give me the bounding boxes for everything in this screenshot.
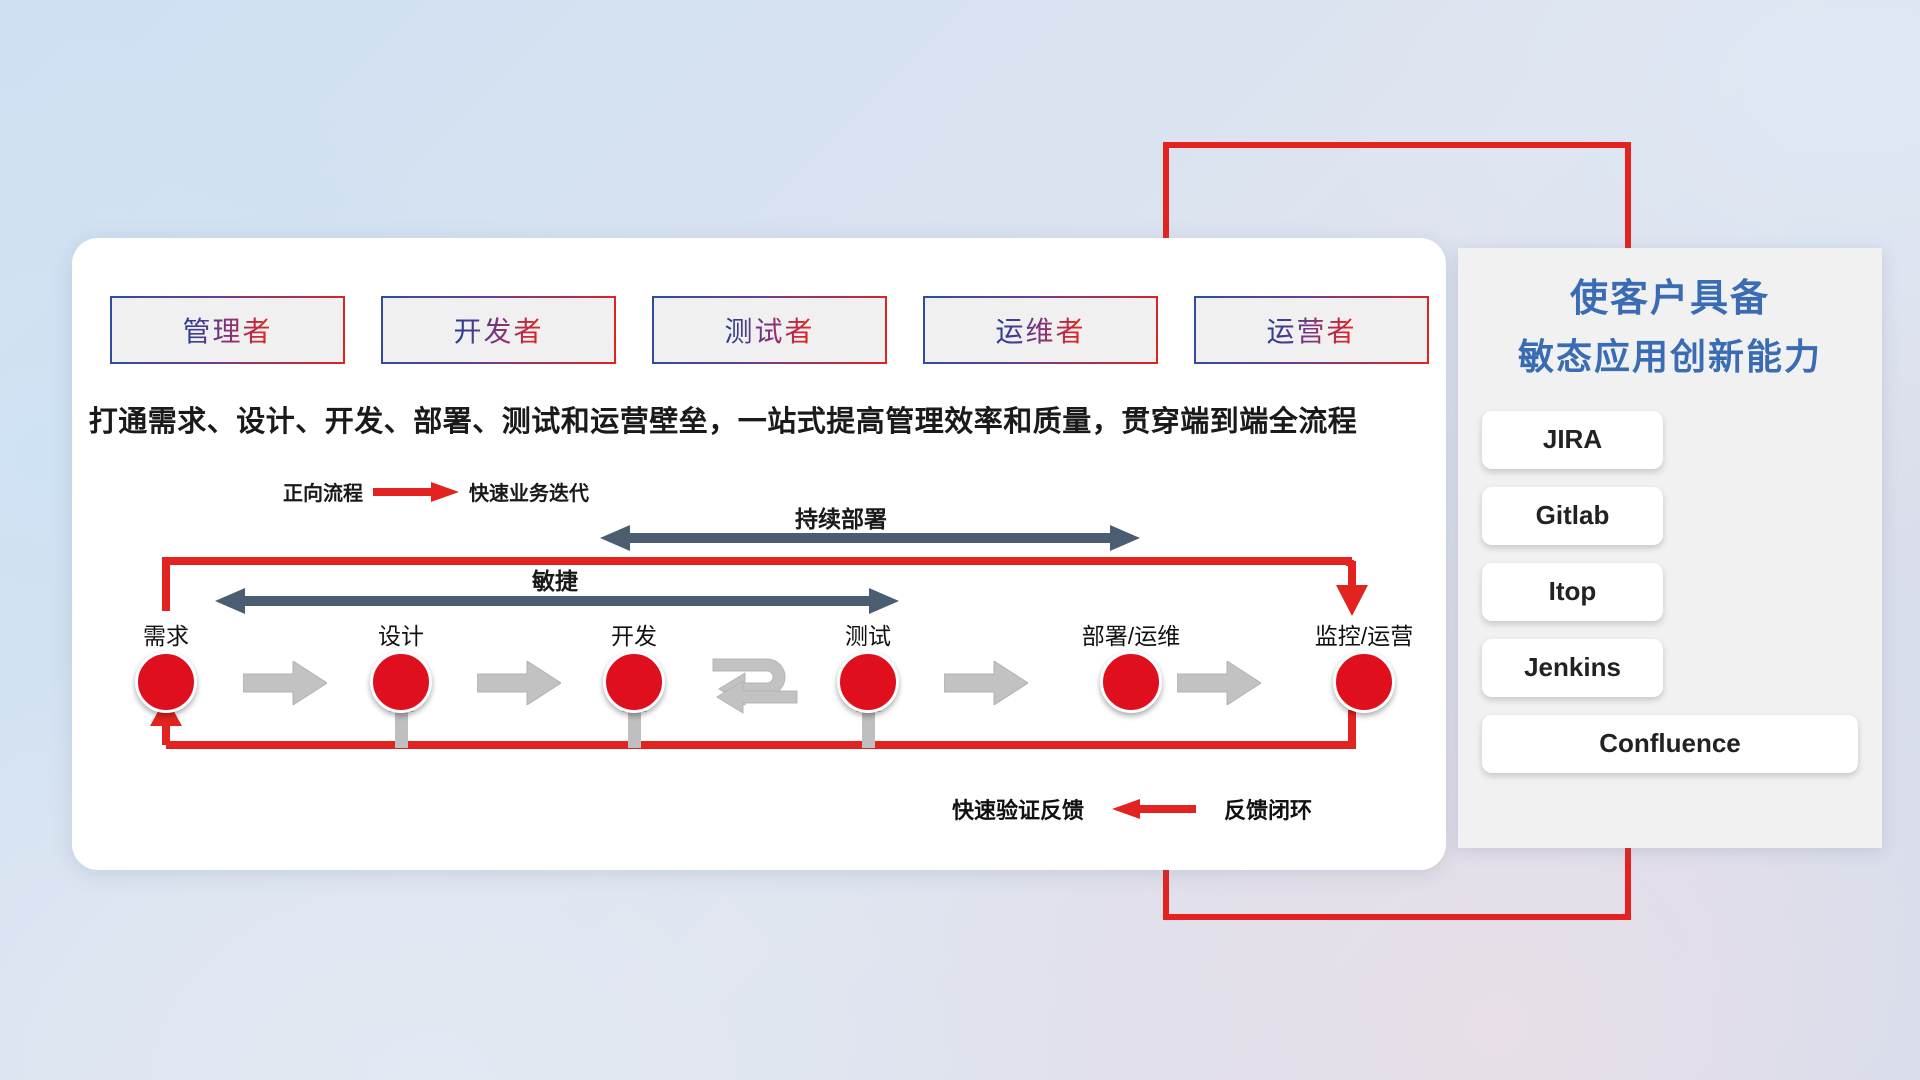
gray-block-arrow-icon-1 bbox=[243, 661, 327, 705]
feedback-loop-legend: 快速验证反馈 反馈闭环 bbox=[952, 793, 1312, 825]
forward-flow-legend: 正向流程 快速业务迭代 bbox=[283, 477, 589, 506]
stage-label: 部署/运维 bbox=[1082, 617, 1180, 651]
tool-chip-itop[interactable]: Itop bbox=[1482, 563, 1663, 621]
gray-block-arrow-icon-4 bbox=[1177, 661, 1261, 705]
role-label: 管理者 bbox=[182, 310, 272, 350]
role-label: 运维者 bbox=[995, 310, 1085, 350]
tool-chip-gitlab[interactable]: Gitlab bbox=[1482, 487, 1663, 545]
stage-label: 监控/运营 bbox=[1315, 617, 1413, 651]
feedback-source-label: 反馈闭环 bbox=[1224, 793, 1312, 825]
red-bracket-frame-bottom bbox=[1163, 914, 1631, 920]
gray-block-arrow-icon-3 bbox=[944, 661, 1028, 705]
stage-dot bbox=[1333, 651, 1395, 713]
role-label: 运营者 bbox=[1266, 310, 1356, 350]
gray-uturn-cycle-arrow-icon bbox=[705, 655, 805, 717]
role-box-manager[interactable]: 管理者 bbox=[110, 296, 345, 364]
tool-chip-group: JIRA Gitlab Itop Jenkins Confluence bbox=[1458, 385, 1882, 773]
tool-chip-confluence[interactable]: Confluence bbox=[1482, 715, 1858, 773]
role-box-operations[interactable]: 运营者 bbox=[1194, 296, 1429, 364]
tool-chip-jenkins[interactable]: Jenkins bbox=[1482, 639, 1663, 697]
red-left-arrow-icon bbox=[1112, 798, 1196, 820]
role-box-tester[interactable]: 测试者 bbox=[652, 296, 887, 364]
role-label: 测试者 bbox=[724, 310, 814, 350]
stage-dot bbox=[370, 651, 432, 713]
stage-dot bbox=[603, 651, 665, 713]
continuous-deployment-double-arrow-icon bbox=[600, 523, 1140, 553]
stage-dot bbox=[135, 651, 197, 713]
gray-block-arrow-icon-2 bbox=[477, 661, 561, 705]
role-box-group: 管理者 开发者 测试者 运维者 运营者 bbox=[110, 296, 1429, 364]
stage-label: 测试 bbox=[845, 617, 891, 651]
outcome-title-line2: 敏态应用创新能力 bbox=[1458, 329, 1882, 385]
slide-canvas: 管理者 开发者 测试者 运维者 运营者 打通需求、设计、开发、部署、测试和运营壁… bbox=[0, 0, 1920, 1080]
forward-flow-target-label: 快速业务迭代 bbox=[469, 477, 589, 506]
role-box-developer[interactable]: 开发者 bbox=[381, 296, 616, 364]
role-label: 开发者 bbox=[453, 310, 543, 350]
feedback-result-label: 快速验证反馈 bbox=[952, 793, 1084, 825]
outcome-panel: 使客户具备 敏态应用创新能力 JIRA Gitlab Itop Jenkins … bbox=[1458, 248, 1882, 848]
role-box-ops[interactable]: 运维者 bbox=[923, 296, 1158, 364]
outcome-panel-title: 使客户具备 敏态应用创新能力 bbox=[1458, 248, 1882, 385]
headline-text: 打通需求、设计、开发、部署、测试和运营壁垒，一站式提高管理效率和质量，贯穿端到端… bbox=[0, 398, 1446, 440]
stage-label: 开发 bbox=[611, 617, 657, 651]
outcome-title-line1: 使客户具备 bbox=[1458, 270, 1882, 329]
red-right-arrow-icon bbox=[373, 481, 459, 503]
tool-chip-jira[interactable]: JIRA bbox=[1482, 411, 1663, 469]
stage-label: 设计 bbox=[378, 617, 424, 651]
stage-dot bbox=[837, 651, 899, 713]
stage-label: 需求 bbox=[143, 617, 189, 651]
agile-double-arrow-icon bbox=[215, 586, 899, 616]
stage-dot bbox=[1100, 651, 1162, 713]
forward-flow-source-label: 正向流程 bbox=[283, 477, 363, 506]
